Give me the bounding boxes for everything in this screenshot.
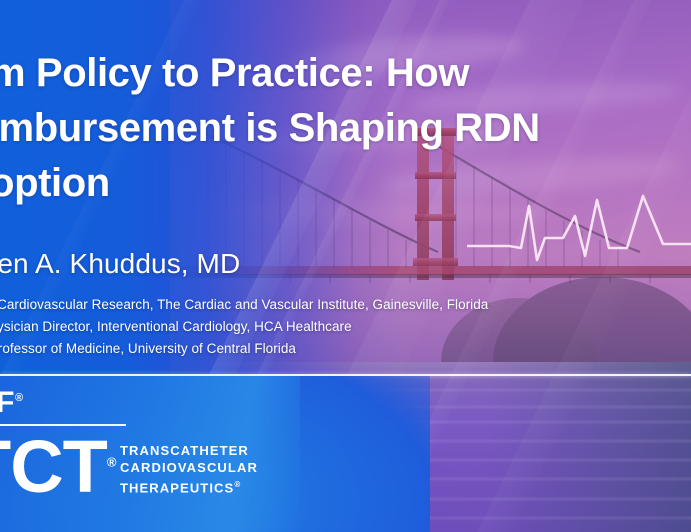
speaker-affiliations: or of Cardiovascular Research, The Cardi…	[0, 294, 488, 360]
crf-logo: RF®	[0, 388, 24, 418]
tagline-line-3-text: THERAPEUTICS	[120, 480, 234, 495]
title-slide: om Policy to Practice: How eimbursement …	[0, 0, 691, 532]
crf-logo-text: RF	[0, 386, 15, 419]
speaker-name: heen A. Khuddus, MD	[0, 248, 240, 280]
registered-mark-icon: ®	[107, 454, 117, 469]
registered-mark-icon: ®	[234, 480, 241, 489]
affiliation-line: or of Cardiovascular Research, The Cardi…	[0, 294, 488, 316]
tct-logo-text: TCT	[0, 425, 107, 508]
page-title: om Policy to Practice: How eimbursement …	[0, 46, 691, 211]
tagline-line-1: TRANSCATHETER	[120, 442, 258, 459]
tct-tagline: TRANSCATHETER CARDIOVASCULAR THERAPEUTIC…	[120, 442, 258, 496]
affiliation-line: al Physician Director, Interventional Ca…	[0, 316, 488, 338]
registered-mark-icon: ®	[15, 392, 24, 404]
tagline-line-3: THERAPEUTICS®	[120, 476, 258, 496]
footer-logo-band: RF® TCT® TRANSCATHETER CARDIOVASCULAR TH…	[0, 376, 691, 532]
affiliation-line: ant Professor of Medicine, University of…	[0, 338, 488, 360]
tagline-line-2: CARDIOVASCULAR	[120, 459, 258, 476]
tct-logo: TCT®	[0, 430, 116, 504]
